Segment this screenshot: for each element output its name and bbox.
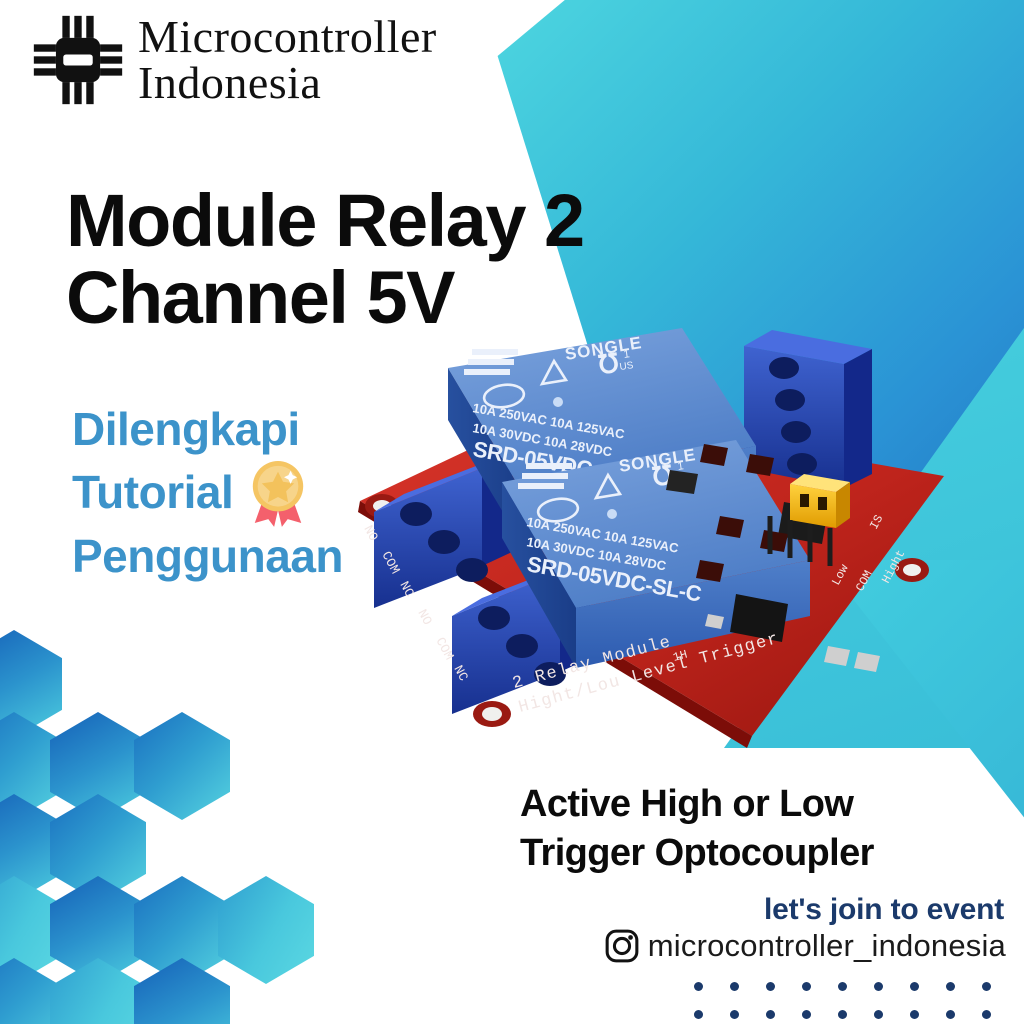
hexagon-pattern <box>0 594 350 1024</box>
brand-logo: Microcontroller Indonesia <box>32 14 437 106</box>
gold-medal-icon <box>247 459 309 527</box>
svg-text:US: US <box>619 360 635 373</box>
tagline-line2: Trigger Optocoupler <box>520 829 990 878</box>
svg-text:℧: ℧ <box>597 348 621 380</box>
instagram-icon[interactable] <box>604 928 640 964</box>
social-handle-text: microcontroller_indonesia <box>648 928 1006 964</box>
product-tagline: Active High or Low Trigger Optocoupler <box>520 780 990 877</box>
subheadline-line2: Tutorial <box>72 463 233 522</box>
headline-line1: Module Relay 2 <box>66 179 584 262</box>
brand-name-line2: Indonesia <box>138 60 437 106</box>
microchip-icon <box>32 14 124 106</box>
page-title: Module Relay 2 Channel 5V <box>66 183 666 337</box>
brand-name-line1: Microcontroller <box>138 14 437 60</box>
join-event-text: let's join to event <box>764 893 1004 927</box>
tagline-line1: Active High or Low <box>520 780 990 829</box>
dot-grid-decoration <box>680 972 1004 1024</box>
poster-canvas: Microcontroller Indonesia Module Relay 2… <box>0 0 1024 1024</box>
social-handle[interactable]: microcontroller_indonesia <box>604 928 1006 964</box>
product-image-relay-module: SONGLE 10A 250VAC 10A 125VAC 10A 30VDC 1… <box>352 316 952 776</box>
svg-text:NO: NO <box>414 607 435 628</box>
